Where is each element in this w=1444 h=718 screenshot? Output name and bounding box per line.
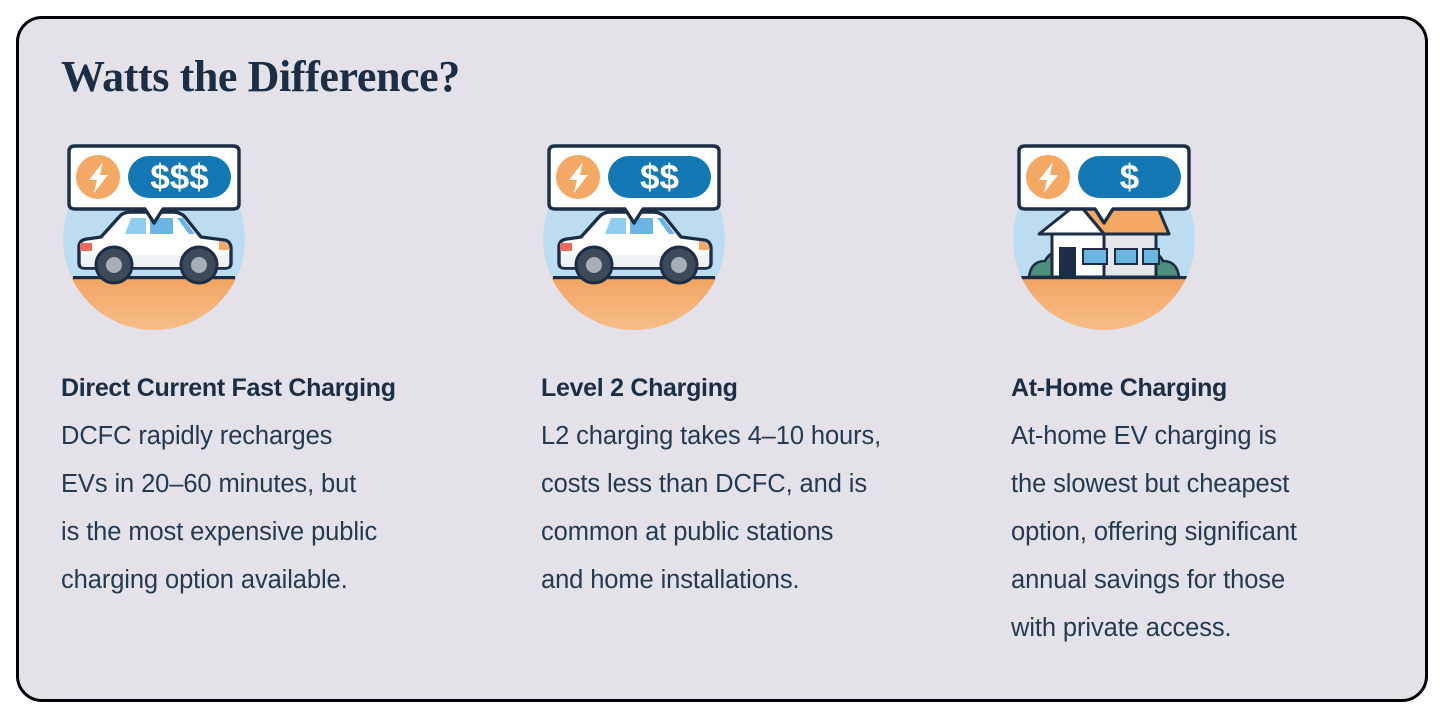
at-home-house-one-dollar-icon: $ (1011, 137, 1197, 345)
level2-car-two-dollars-icon: $$ (541, 137, 727, 345)
card-at-home: $ At-Home Charging At-home EV charging i… (969, 137, 1428, 652)
card-body-line: costs less than DCFC, and is (541, 460, 969, 508)
card-body-line: option, offering significant (1011, 508, 1428, 556)
dcfc-car-three-dollars-icon: $$$ (61, 137, 247, 345)
price-label: $$$ (150, 158, 208, 197)
card-heading: Direct Current Fast Charging (61, 373, 499, 403)
card-body-line: DCFC rapidly recharges (61, 412, 499, 460)
card-dcfc: $$$ Direct Current Fast Charging DCFC ra… (19, 137, 499, 652)
infographic-panel: Watts the Difference? (16, 16, 1428, 702)
card-body-line: is the most expensive public (61, 508, 499, 556)
infographic-root: Watts the Difference? (0, 0, 1444, 718)
card-body: At-home EV charging is the slowest but c… (1011, 412, 1428, 652)
card-body-line: annual savings for those (1011, 556, 1428, 604)
bolt-icon (76, 155, 120, 199)
page-title: Watts the Difference? (61, 51, 460, 102)
price-label: $$ (640, 158, 679, 197)
card-body-line: common at public stations (541, 508, 969, 556)
card-body-line: charging option available. (61, 556, 499, 604)
price-pill-1: $ (1078, 156, 1181, 198)
bolt-icon (1026, 155, 1070, 199)
card-body-line: the slowest but cheapest (1011, 460, 1428, 508)
card-heading: At-Home Charging (1011, 373, 1428, 403)
card-body-line: and home installations. (541, 556, 969, 604)
card-body-line: L2 charging takes 4–10 hours, (541, 412, 969, 460)
card-body: L2 charging takes 4–10 hours, costs less… (541, 412, 969, 604)
price-pill-3: $$$ (128, 156, 231, 198)
card-heading: Level 2 Charging (541, 373, 969, 403)
card-level-2: $$ Level 2 Charging L2 charging takes 4–… (499, 137, 969, 652)
price-label: $ (1120, 158, 1139, 197)
card-body: DCFC rapidly recharges EVs in 20–60 minu… (61, 412, 499, 604)
card-body-line: with private access. (1011, 604, 1428, 652)
cards-row: $$$ Direct Current Fast Charging DCFC ra… (19, 137, 1428, 652)
bolt-icon (556, 155, 600, 199)
card-body-line: At-home EV charging is (1011, 412, 1428, 460)
card-body-line: EVs in 20–60 minutes, but (61, 460, 499, 508)
price-pill-2: $$ (608, 156, 711, 198)
